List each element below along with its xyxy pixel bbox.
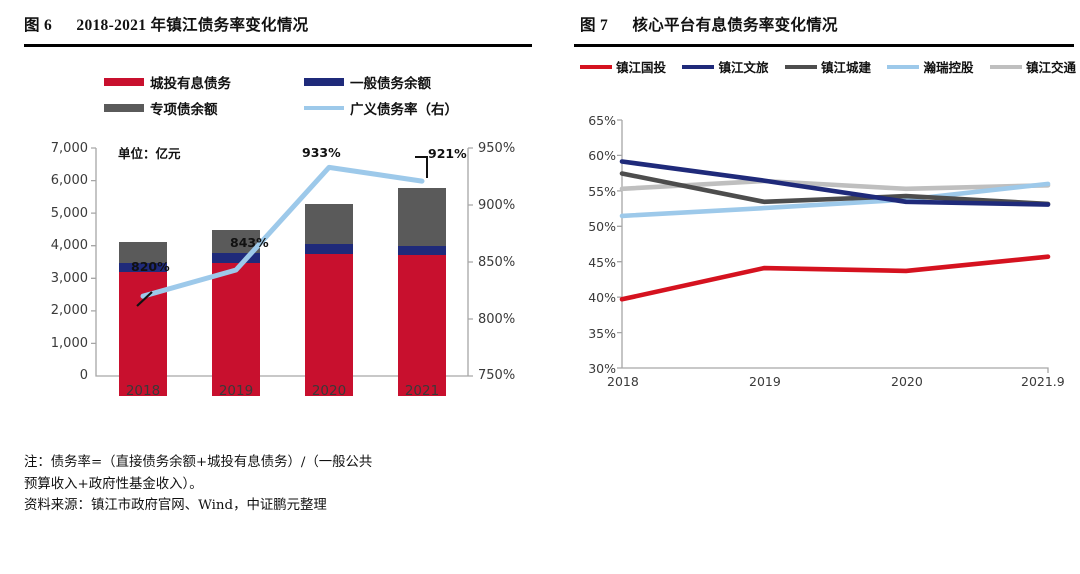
legend-swatch-zhenjiang-jiaotong bbox=[990, 65, 1022, 69]
figure-7-series bbox=[580, 112, 1076, 397]
figure-6-title-text: 2018-2021 年镇江债务率变化情况 bbox=[76, 17, 308, 34]
legend-swatch-broad-debt-ratio bbox=[304, 106, 344, 110]
legend-label-broad-debt-ratio: 广义债务率（右） bbox=[350, 98, 458, 118]
figure-7-plot: 65% 60% 55% 50% 45% 40% 35% 30% bbox=[580, 112, 1076, 397]
figure-6-legend: 城投有息债务 一般债务余额 专项债余额 广义债务率（右） bbox=[104, 73, 504, 116]
legend-item-general-debt: 一般债务余额 bbox=[304, 73, 504, 90]
figure-6-label: 图 6 bbox=[24, 17, 52, 34]
legend-swatch-zhenjiang-chengjian bbox=[785, 65, 817, 69]
figure-page: 图 6 2018-2021 年镇江债务率变化情况 城投有息债务 一般债务余额 专… bbox=[0, 0, 1080, 574]
x-axis-label-2021-9: 2021.9 bbox=[1021, 374, 1065, 389]
x-axis-label-2018: 2018 bbox=[607, 374, 639, 389]
legend-item-chengtou-debt: 城投有息债务 bbox=[104, 73, 304, 90]
legend-swatch-chengtou-debt bbox=[104, 78, 144, 86]
legend-swatch-general-debt bbox=[304, 78, 344, 86]
legend-item-hanrui-holding: 瀚瑞控股 bbox=[887, 57, 973, 76]
figure-6-title: 图 6 2018-2021 年镇江债务率变化情况 bbox=[24, 13, 308, 35]
figure-7-rule bbox=[574, 44, 1074, 47]
legend-swatch-special-bond bbox=[104, 104, 144, 112]
legend-label-chengtou-debt: 城投有息债务 bbox=[150, 72, 231, 92]
figure-6-note: 注：债务率=（直接债务余额+城投有息债务）/（一般公共 预算收入+政府性基金收入… bbox=[24, 452, 536, 517]
figure-6-note-line-1: 注：债务率=（直接债务余额+城投有息债务）/（一般公共 bbox=[24, 452, 536, 474]
legend-swatch-zhenjiang-guotou bbox=[580, 65, 612, 69]
legend-item-broad-debt-ratio: 广义债务率（右） bbox=[304, 99, 504, 116]
figure-7-label: 图 7 bbox=[580, 17, 608, 34]
legend-item-zhenjiang-chengjian: 镇江城建 bbox=[785, 57, 871, 76]
legend-label-zhenjiang-wenlv: 镇江文旅 bbox=[718, 57, 768, 76]
data-label-921: 921% bbox=[428, 146, 467, 161]
legend-label-special-bond: 专项债余额 bbox=[150, 98, 218, 118]
legend-item-special-bond: 专项债余额 bbox=[104, 99, 304, 116]
legend-swatch-hanrui-holding bbox=[887, 65, 919, 69]
legend-item-zhenjiang-guotou: 镇江国投 bbox=[580, 57, 666, 76]
x-axis-label-2020: 2020 bbox=[891, 374, 923, 389]
legend-item-zhenjiang-jiaotong: 镇江交通 bbox=[990, 57, 1076, 76]
x-axis-label-2019: 2019 bbox=[749, 374, 781, 389]
figure-6-panel: 图 6 2018-2021 年镇江债务率变化情况 城投有息债务 一般债务余额 专… bbox=[0, 0, 556, 574]
legend-label-zhenjiang-chengjian: 镇江城建 bbox=[821, 57, 871, 76]
figure-6-rule bbox=[24, 44, 532, 47]
x-axis-label-2020: 2020 bbox=[299, 383, 359, 399]
legend-item-zhenjiang-wenlv: 镇江文旅 bbox=[682, 57, 768, 76]
x-axis-label-2018: 2018 bbox=[113, 383, 173, 399]
legend-label-zhenjiang-jiaotong: 镇江交通 bbox=[1026, 57, 1076, 76]
legend-swatch-zhenjiang-wenlv bbox=[682, 65, 714, 69]
data-label-820: 820% bbox=[131, 259, 170, 274]
legend-label-general-debt: 一般债务余额 bbox=[350, 72, 431, 92]
figure-7-title: 图 7 核心平台有息债务率变化情况 bbox=[580, 13, 838, 35]
data-label-843: 843% bbox=[230, 235, 269, 250]
figure-6-note-line-2: 预算收入+政府性基金收入）。 bbox=[24, 474, 536, 496]
data-label-933: 933% bbox=[302, 145, 341, 160]
x-axis-label-2019: 2019 bbox=[206, 383, 266, 399]
legend-label-zhenjiang-guotou: 镇江国投 bbox=[616, 57, 666, 76]
figure-7-title-text: 核心平台有息债务率变化情况 bbox=[632, 17, 837, 34]
broad-debt-ratio-line bbox=[34, 140, 532, 396]
figure-6-plot: 7,000 6,000 5,000 4,000 3,000 2,000 1,00… bbox=[34, 140, 532, 396]
legend-label-hanrui-holding: 瀚瑞控股 bbox=[923, 57, 973, 76]
x-axis-label-2021: 2021 bbox=[392, 383, 452, 399]
figure-6-note-line-3: 资料来源：镇江市政府官网、Wind，中证鹏元整理 bbox=[24, 495, 536, 517]
figure-7-panel: 图 7 核心平台有息债务率变化情况 镇江国投 镇江文旅 镇江城建 瀚瑞控股 bbox=[556, 0, 1080, 574]
figure-7-legend: 镇江国投 镇江文旅 镇江城建 瀚瑞控股 镇江交通 bbox=[580, 57, 1076, 76]
